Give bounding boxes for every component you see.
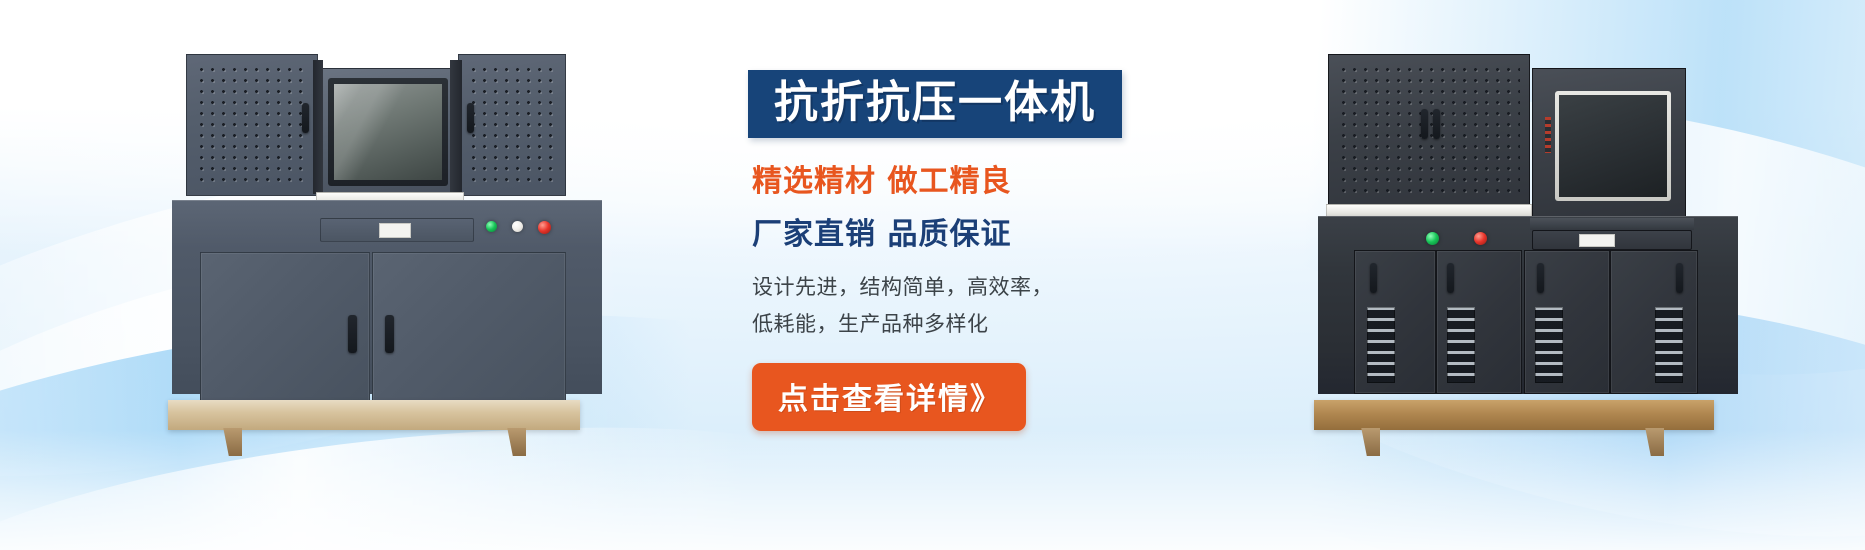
cabinet-handle[interactable]: [1370, 263, 1377, 293]
lower-cabinet-door-right[interactable]: [372, 252, 566, 406]
monitor-screen: [334, 84, 442, 180]
left-upper-perforated-panel: [186, 54, 318, 196]
lower-cabinet-door-left[interactable]: [200, 252, 370, 406]
cabinet-handle-right[interactable]: [1433, 109, 1440, 139]
wooden-pallet: [1314, 400, 1714, 430]
lower-cabinet-door-2[interactable]: [1436, 250, 1522, 394]
monitor-side-buttons[interactable]: [1545, 117, 1551, 153]
ventilation-grille: [1655, 307, 1683, 383]
product-promo-banner: 抗折抗压一体机 精选精材 做工精良 厂家直销 品质保证 设计先进，结构简单，高效…: [0, 0, 1865, 550]
right-control-strip: [1532, 230, 1692, 250]
cabinet-handle[interactable]: [1537, 263, 1544, 293]
ventilation-grille: [1447, 307, 1475, 383]
cabinet-handle[interactable]: [1447, 263, 1454, 293]
cabinet-handle[interactable]: [467, 103, 474, 133]
right-upper-perforated-cabinet: [1328, 54, 1530, 206]
ventilation-grille: [1367, 307, 1395, 383]
left-monitor-housing: [318, 68, 458, 196]
indicator-light-red: [538, 221, 551, 234]
description-line-1: 设计先进，结构简单，高效率，: [752, 269, 1222, 306]
control-panel-label: [379, 223, 411, 238]
monitor-bezel: [1555, 91, 1671, 201]
perforation-pattern: [1338, 64, 1520, 196]
ventilation-grille: [1535, 307, 1563, 383]
view-details-button[interactable]: 点击查看详情》: [752, 363, 1026, 431]
left-upper-perforated-panel-2: [458, 54, 566, 196]
cabinet-handle[interactable]: [348, 315, 357, 353]
lower-cabinet-door-4[interactable]: [1610, 250, 1698, 394]
perforation-pattern: [468, 64, 556, 186]
description-line-2: 低耗能，生产品种多样化: [752, 306, 1222, 343]
cabinet-handle[interactable]: [302, 103, 309, 133]
lower-cabinet-door-1[interactable]: [1354, 250, 1436, 394]
wooden-pallet: [168, 400, 580, 430]
cabinet-handle[interactable]: [1676, 263, 1683, 293]
machine-left-photo: [172, 50, 602, 430]
description-block: 设计先进，结构简单，高效率， 低耗能，生产品种多样化: [752, 269, 1222, 343]
right-monitor-housing: [1532, 68, 1686, 222]
indicator-light-green: [486, 221, 497, 232]
lower-cabinet-door-3[interactable]: [1524, 250, 1610, 394]
promo-copy-block: 抗折抗压一体机 精选精材 做工精良 厂家直销 品质保证 设计先进，结构简单，高效…: [752, 70, 1222, 431]
title-banner: 抗折抗压一体机: [748, 70, 1122, 138]
subtitle-orange: 精选精材 做工精良: [752, 156, 1222, 200]
cabinet-side-shadow-left: [313, 60, 323, 194]
page-title: 抗折抗压一体机: [774, 81, 1096, 125]
cabinet-handle-left[interactable]: [1421, 109, 1428, 139]
perforation-pattern: [196, 64, 308, 186]
subtitle-blue: 厂家直销 品质保证: [752, 209, 1222, 253]
control-panel-label: [1579, 234, 1615, 247]
cabinet-handle[interactable]: [385, 315, 394, 353]
monitor-screen: [1559, 95, 1667, 197]
machine-right-photo: [1318, 48, 1738, 430]
indicator-light-green: [1426, 232, 1439, 245]
background-bottom-fade: [0, 430, 1865, 550]
indicator-light-red: [1474, 232, 1487, 245]
right-upper-step: [1530, 218, 1694, 230]
cabinet-side-shadow-right: [450, 60, 462, 194]
monitor-bezel: [328, 78, 448, 186]
indicator-light-white: [512, 221, 523, 232]
control-panel-strip: [320, 218, 474, 242]
